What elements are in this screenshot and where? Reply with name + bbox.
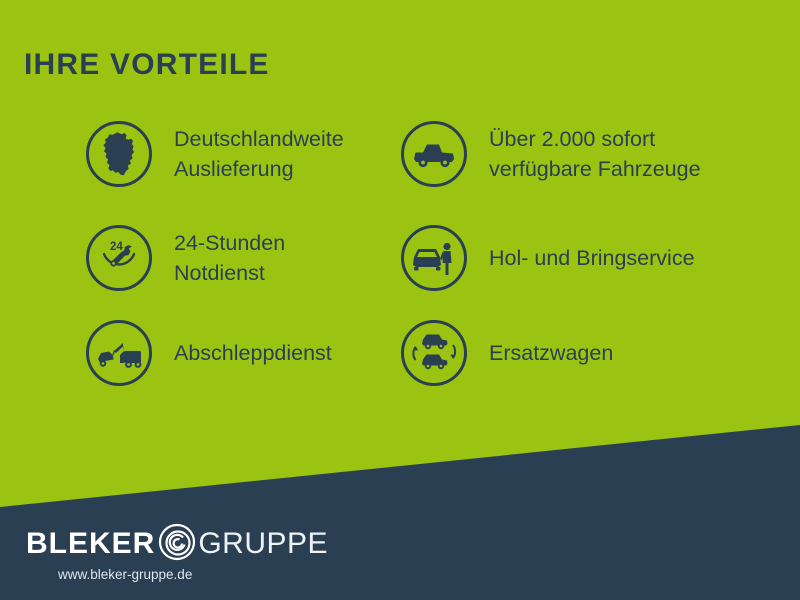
two-cars-exchange-icon bbox=[401, 320, 467, 386]
logo-lockup: BLEKER GRUPPE bbox=[26, 524, 446, 564]
benefit-label: Abschleppdienst bbox=[174, 338, 332, 368]
germany-map-icon bbox=[86, 121, 152, 187]
benefit-item-ersatzwagen: Ersatzwagen bbox=[401, 320, 613, 386]
benefit-item-24-stunden-notdienst: 24 24-Stunden Notdienst bbox=[86, 225, 285, 291]
slide: IHRE VORTEILE Deutschlandweite Ausliefer… bbox=[0, 0, 800, 600]
badge-24: 24 bbox=[110, 241, 123, 253]
benefit-item-hol-und-bringservice: Hol- und Bringservice bbox=[401, 225, 695, 291]
logo-primary-text: BLEKER bbox=[26, 527, 155, 561]
footer-logo-block: BLEKER GRUPPE www.bleker-gruppe.de bbox=[26, 524, 446, 582]
benefit-label: Ersatzwagen bbox=[489, 338, 613, 368]
benefit-label: Deutschlandweite Auslieferung bbox=[174, 124, 344, 184]
tow-truck-icon bbox=[86, 320, 152, 386]
wrench-24-hours-icon: 24 bbox=[86, 225, 152, 291]
car-with-person-icon bbox=[401, 225, 467, 291]
benefit-item-verfuegbare-fahrzeuge: Über 2.000 sofort verfügbare Fahrzeuge bbox=[401, 121, 701, 187]
benefit-item-abschleppdienst: Abschleppdienst bbox=[86, 320, 332, 386]
benefit-label: Hol- und Bringservice bbox=[489, 243, 695, 273]
page-title: IHRE VORTEILE bbox=[24, 48, 270, 82]
benefit-item-deutschlandweite-auslieferung: Deutschlandweite Auslieferung bbox=[86, 121, 344, 187]
logo-secondary-text: GRUPPE bbox=[198, 527, 328, 561]
benefit-label: 24-Stunden Notdienst bbox=[174, 228, 285, 288]
car-icon bbox=[401, 121, 467, 187]
footer-website-url: www.bleker-gruppe.de bbox=[58, 567, 446, 582]
benefit-label: Über 2.000 sofort verfügbare Fahrzeuge bbox=[489, 124, 701, 184]
spiral-logo-icon bbox=[157, 522, 197, 567]
